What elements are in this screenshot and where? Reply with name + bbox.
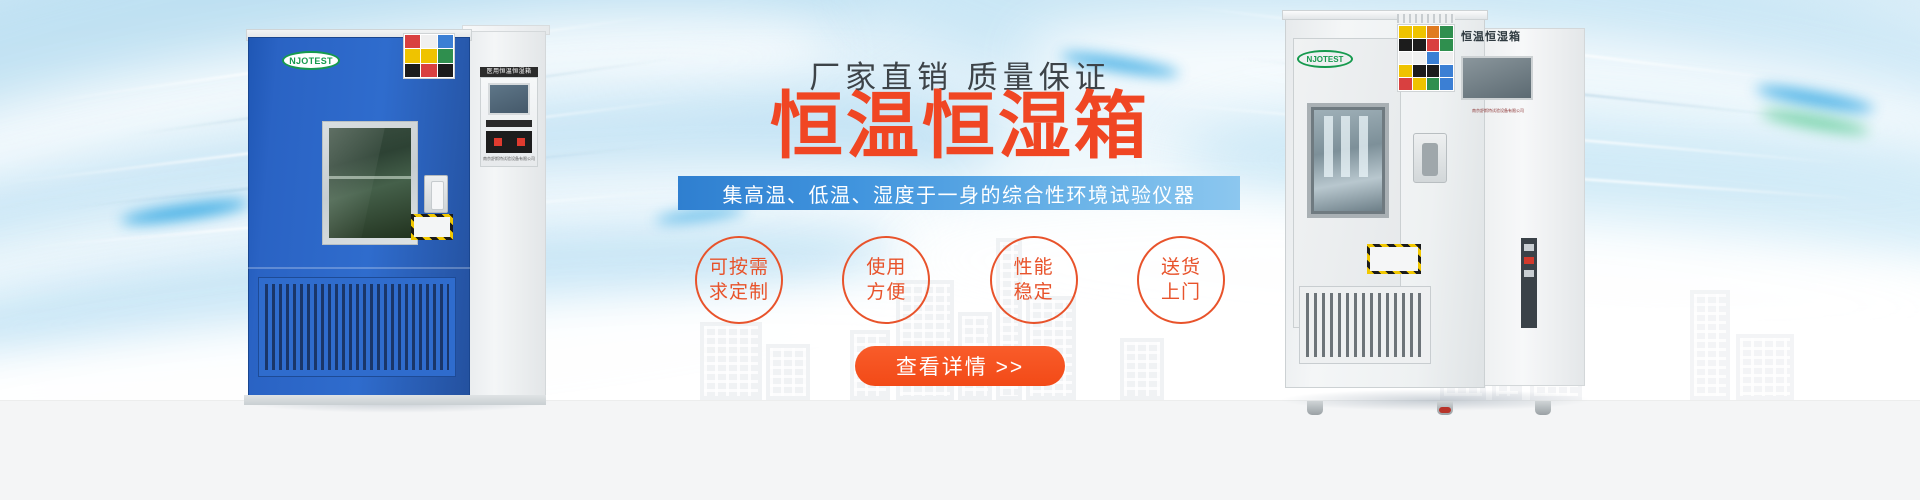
promo-banner: NJOTEST 医用恒温恒湿箱 南京舒斯特试验设备有限公司 <box>0 0 1920 500</box>
feature-line-2: 方便 <box>866 280 906 305</box>
top-louver <box>1397 14 1455 23</box>
indicator-lamp <box>517 138 525 146</box>
sticker-cell <box>405 35 420 48</box>
sticker-cell <box>1440 52 1453 64</box>
viewing-window <box>1307 103 1389 218</box>
sticker-cell <box>1427 26 1440 38</box>
door-handle <box>1413 133 1447 183</box>
model-label-right: 恒温恒湿箱 <box>1461 28 1531 42</box>
safety-sticker <box>1397 24 1455 92</box>
sticker-cell <box>1399 26 1412 38</box>
safety-sticker <box>403 33 455 79</box>
feature-circle-2[interactable]: 使用 方便 <box>842 236 930 324</box>
feature-line-1: 使用 <box>866 255 906 280</box>
sticker-cell <box>1399 65 1412 77</box>
caster-wheel <box>1307 401 1323 415</box>
panel-footer-left: 南京舒斯特试验设备有限公司 <box>482 155 536 163</box>
sticker-cell <box>438 49 453 62</box>
sticker-cell <box>1440 65 1453 77</box>
view-details-button[interactable]: 查看详情 >> <box>855 346 1065 386</box>
feature-line-1: 可按需 <box>709 255 769 280</box>
sticker-cell <box>1440 39 1453 51</box>
cabinet-base <box>244 395 546 405</box>
sticker-cell <box>1427 39 1440 51</box>
side-indicator-strip <box>1521 238 1537 328</box>
warning-label <box>1367 244 1421 274</box>
ventilation-grille <box>258 277 456 377</box>
panel-buttons <box>486 131 532 153</box>
caster-wheel <box>1437 401 1453 415</box>
sticker-cell <box>1413 65 1426 77</box>
window-glass <box>1314 110 1382 211</box>
sticker-cell <box>405 49 420 62</box>
company-text-right: 南京舒斯特试验设备有限公司 <box>1457 108 1539 122</box>
indicator-lamp <box>1524 270 1534 277</box>
viewing-window <box>322 121 418 245</box>
subtitle-bar: 集高温、低温、湿度于一身的综合性环境试验仪器 <box>678 176 1240 210</box>
banner-content: 厂家直销 质量保证 恒温恒湿箱 集高温、低温、湿度于一身的综合性环境试验仪器 可… <box>700 0 1220 500</box>
feature-line-2: 稳定 <box>1014 280 1054 305</box>
panel-strip <box>486 120 532 127</box>
product-image-right-chamber: NJOTEST <box>1285 8 1585 403</box>
feature-line-1: 性能 <box>1014 255 1054 280</box>
cabinet-top-cap <box>1282 10 1488 20</box>
door-handle <box>424 175 448 213</box>
indicator-lamp <box>1524 257 1534 264</box>
window-glass <box>329 128 411 238</box>
ventilation-grille <box>1299 286 1431 364</box>
feature-circle-4[interactable]: 送货 上门 <box>1137 236 1225 324</box>
sticker-cell <box>1427 78 1440 90</box>
sticker-cell <box>1440 78 1453 90</box>
sticker-cell <box>1399 52 1412 64</box>
indicator-lamp <box>494 138 502 146</box>
feature-line-2: 求定制 <box>709 280 769 305</box>
sticker-cell <box>1399 78 1412 90</box>
controller-screen <box>488 83 530 115</box>
sticker-cell <box>1413 39 1426 51</box>
sticker-cell <box>421 35 436 48</box>
caster-wheel <box>1535 401 1551 415</box>
sticker-cell <box>1413 52 1426 64</box>
feature-circle-list: 可按需 求定制 使用 方便 性能 稳定 送货 上门 <box>695 232 1225 328</box>
sticker-cell <box>1413 26 1426 38</box>
sticker-cell <box>1427 65 1440 77</box>
brand-logo-right: NJOTEST <box>1297 50 1353 68</box>
indicator-lamp <box>1524 244 1534 251</box>
sticker-cell <box>1399 39 1412 51</box>
feature-line-1: 送货 <box>1161 255 1201 280</box>
warning-label <box>411 214 453 240</box>
feature-line-2: 上门 <box>1161 280 1201 305</box>
sticker-cell <box>438 35 453 48</box>
building-shape <box>1736 334 1794 400</box>
product-image-left-chamber: NJOTEST 医用恒温恒湿箱 南京舒斯特试验设备有限公司 <box>248 25 543 405</box>
sticker-cell <box>1413 78 1426 90</box>
sticker-cell <box>421 49 436 62</box>
body-seam <box>248 267 470 269</box>
sticker-cell <box>405 64 420 77</box>
controller-screen <box>1461 56 1533 100</box>
sticker-cell <box>421 64 436 77</box>
sticker-cell <box>1440 26 1453 38</box>
building-shape <box>1690 290 1730 400</box>
sticker-cell <box>438 64 453 77</box>
subtitle-text: 集高温、低温、湿度于一身的综合性环境试验仪器 <box>723 179 1196 208</box>
sticker-cell <box>1427 52 1440 64</box>
feature-circle-1[interactable]: 可按需 求定制 <box>695 236 783 324</box>
brand-logo-left: NJOTEST <box>282 51 340 70</box>
page-title: 恒温恒湿箱 <box>700 88 1220 166</box>
feature-circle-3[interactable]: 性能 稳定 <box>990 236 1078 324</box>
